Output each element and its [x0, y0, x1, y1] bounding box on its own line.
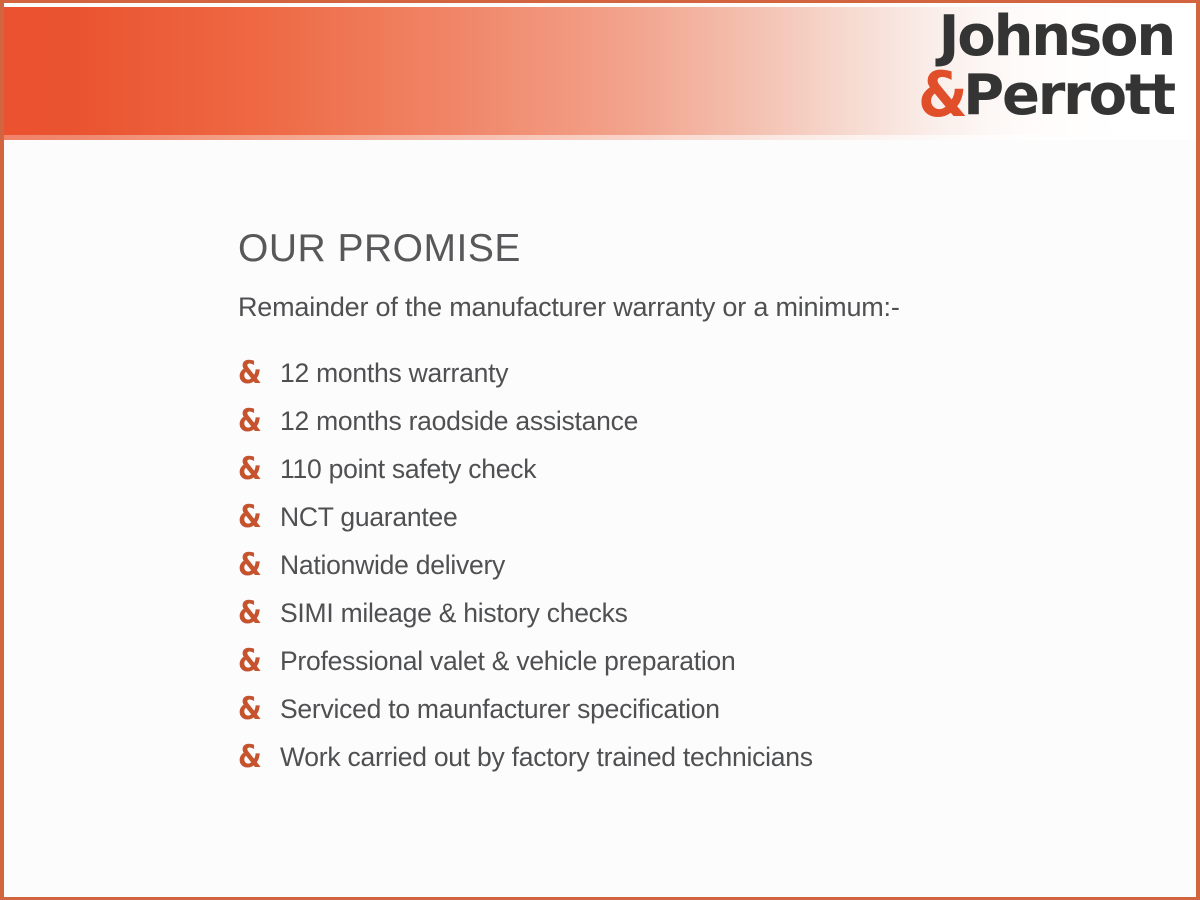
logo-word-johnson: Johnson [916, 10, 1174, 63]
ampersand-bullet-icon: & [238, 358, 275, 389]
list-item-label: SIMI mileage & history checks [280, 598, 628, 629]
logo-word-perrott: Perrott [963, 69, 1174, 122]
ampersand-bullet-icon: & [238, 742, 275, 773]
list-item-label: Nationwide delivery [280, 550, 505, 581]
list-item-label: NCT guarantee [280, 502, 457, 533]
list-item: & 12 months warranty [238, 350, 1138, 398]
list-item: & NCT guarantee [238, 494, 1138, 542]
list-item: & 12 months raodside assistance [238, 398, 1138, 446]
list-item: & Nationwide delivery [238, 542, 1138, 590]
ampersand-bullet-icon: & [238, 598, 275, 629]
ampersand-bullet-icon: & [238, 646, 275, 677]
ampersand-bullet-icon: & [238, 454, 275, 485]
promise-list: & 12 months warranty & 12 months raodsid… [238, 350, 1138, 782]
list-item-label: Serviced to maunfacturer specification [280, 694, 720, 725]
johnson-and-perrott-logo: Johnson & Perrott [916, 10, 1174, 123]
promise-subtitle: Remainder of the manufacturer warranty o… [238, 292, 1138, 323]
list-item: & Serviced to maunfacturer specification [238, 686, 1138, 734]
ampersand-bullet-icon: & [238, 502, 275, 533]
ampersand-bullet-icon: & [238, 406, 275, 437]
list-item: & 110 point safety check [238, 446, 1138, 494]
list-item: & Professional valet & vehicle preparati… [238, 638, 1138, 686]
logo-second-line: & Perrott [916, 64, 1174, 123]
ampersand-bullet-icon: & [238, 550, 275, 581]
list-item-label: 110 point safety check [280, 454, 536, 485]
list-item-label: 12 months warranty [280, 358, 508, 389]
list-item: & Work carried out by factory trained te… [238, 734, 1138, 782]
list-item: & SIMI mileage & history checks [238, 590, 1138, 638]
promise-block: OUR PROMISE Remainder of the manufacture… [238, 228, 1138, 782]
promise-slide: Johnson & Perrott OUR PROMISE Remainder … [0, 0, 1200, 900]
list-item-label: 12 months raodside assistance [280, 406, 638, 437]
ampersand-icon: & [918, 66, 964, 125]
content-area: OUR PROMISE Remainder of the manufacture… [4, 140, 1196, 897]
ampersand-bullet-icon: & [238, 694, 275, 725]
list-item-label: Professional valet & vehicle preparation [280, 646, 735, 677]
list-item-label: Work carried out by factory trained tech… [280, 742, 813, 773]
page-title: OUR PROMISE [238, 228, 1138, 271]
